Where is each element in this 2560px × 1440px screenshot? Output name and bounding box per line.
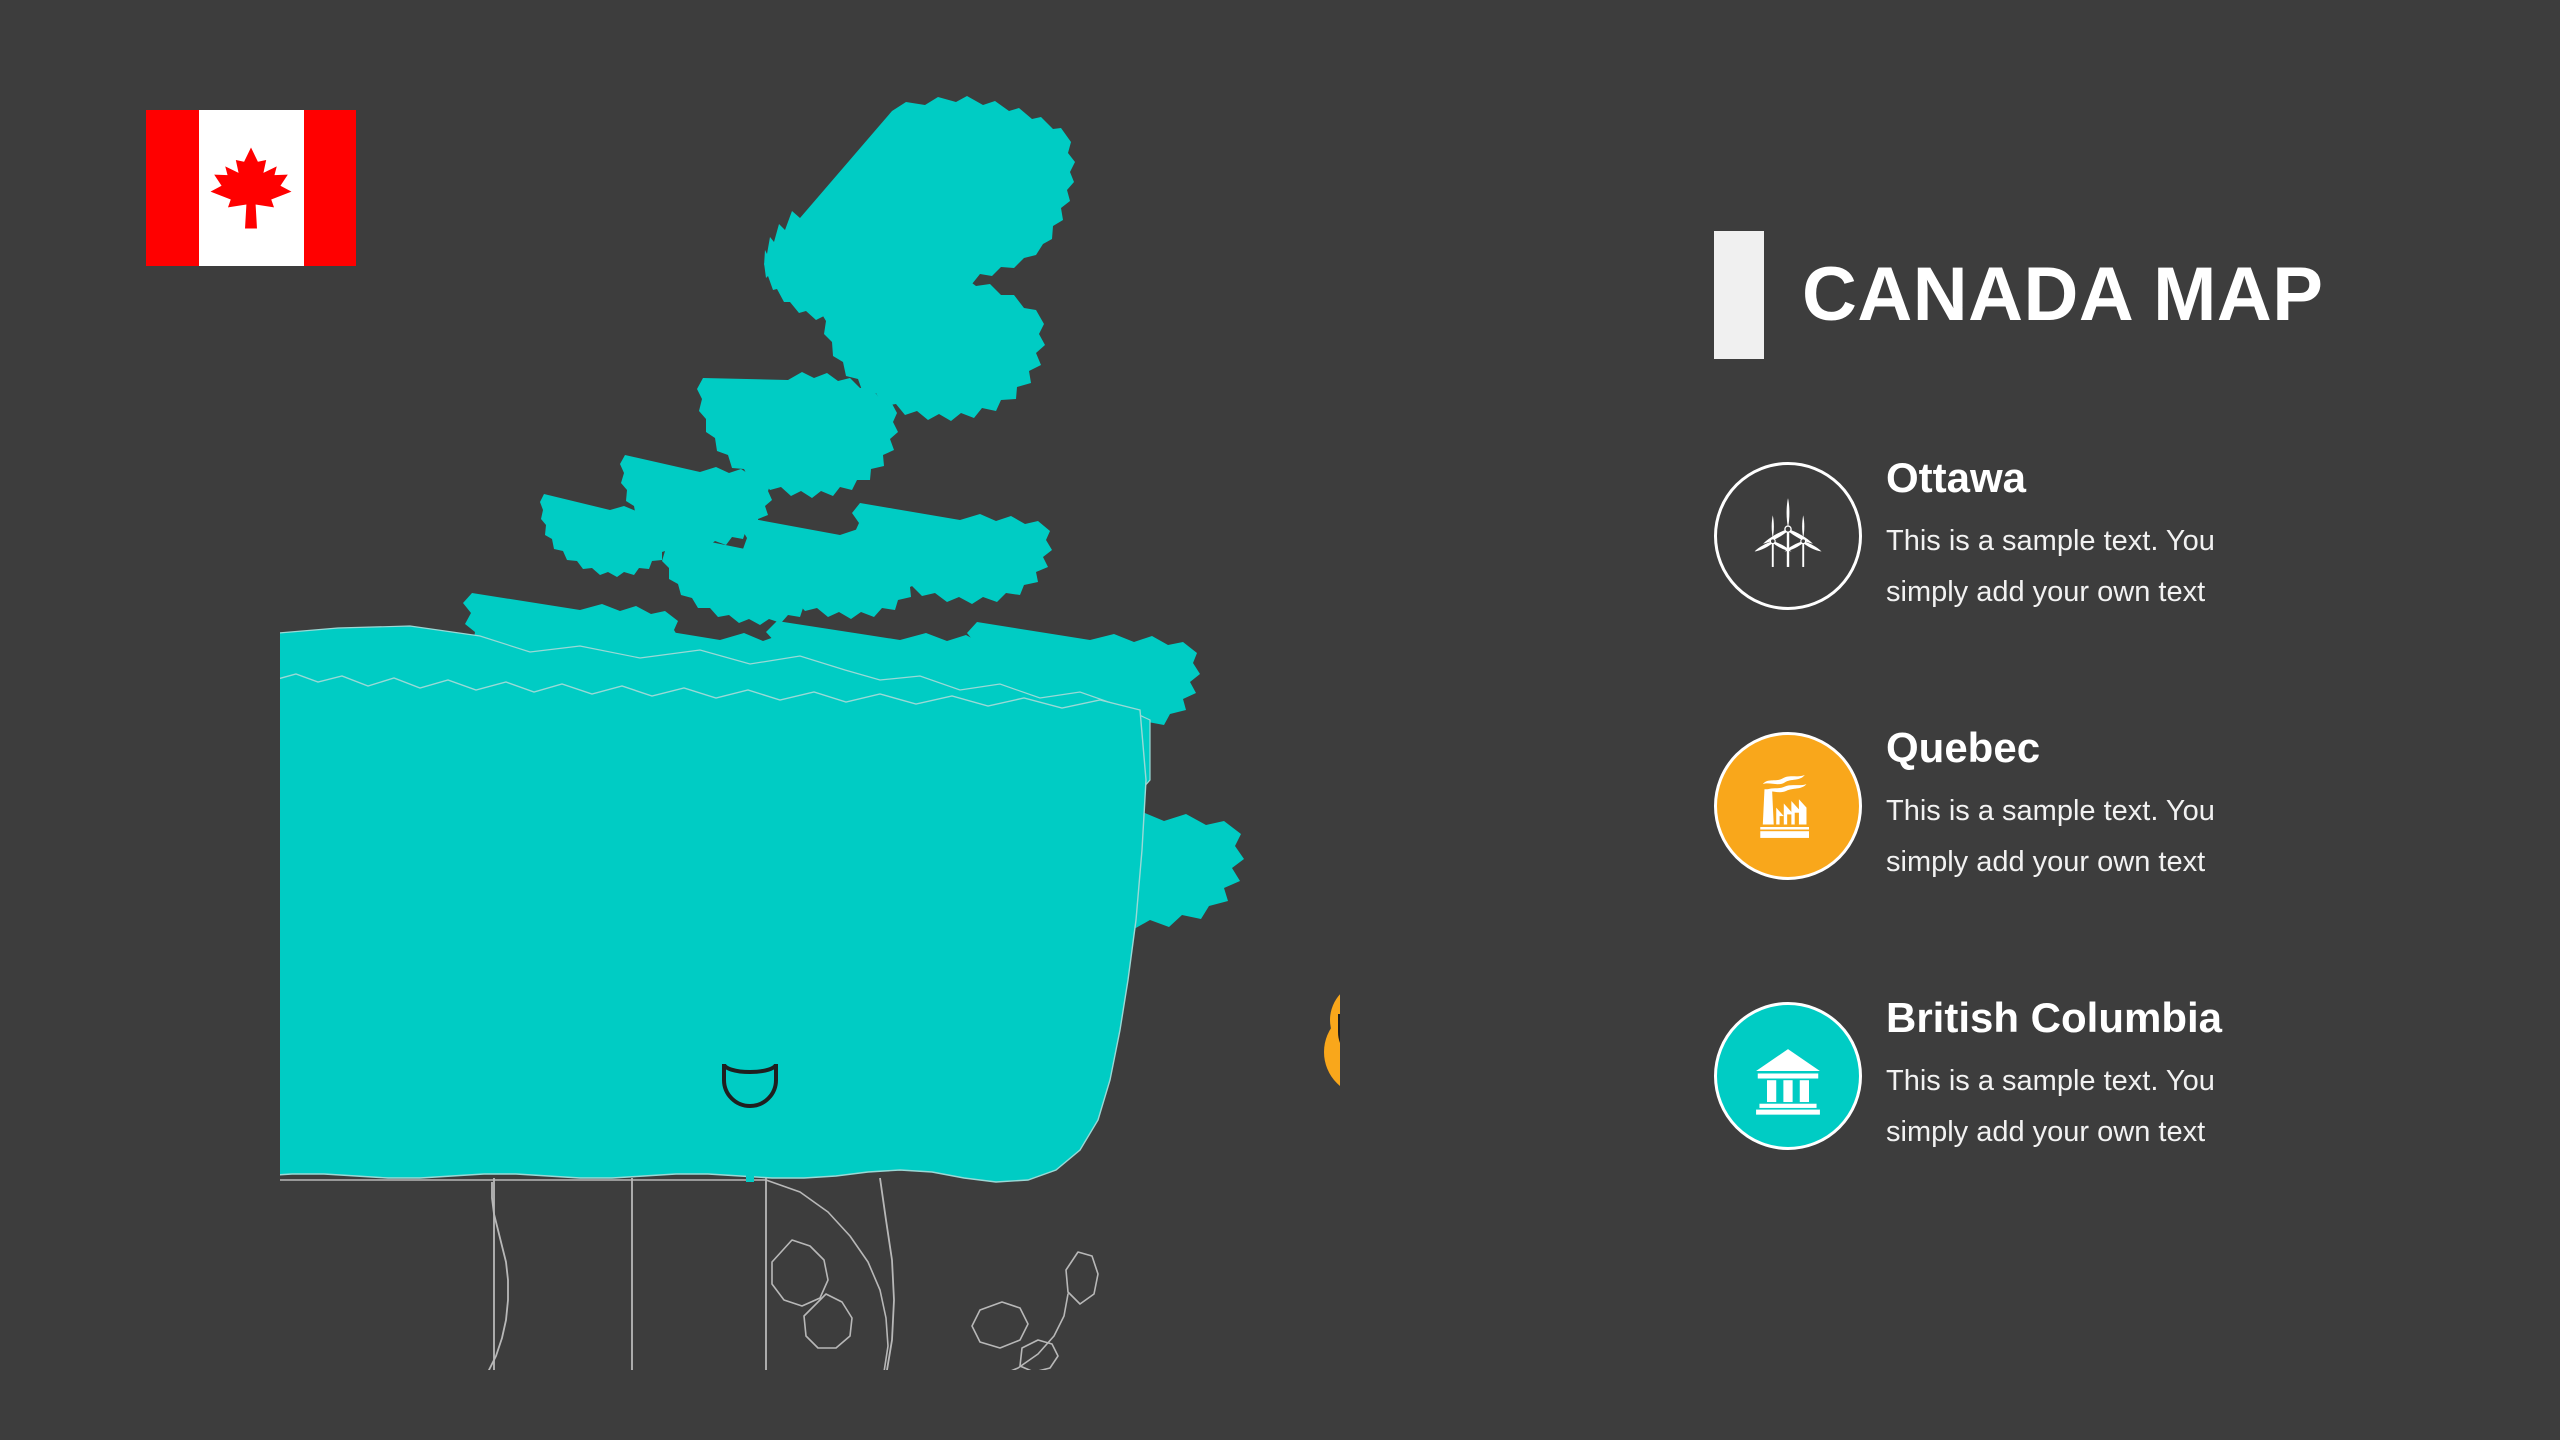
title-accent-bar [1714,231,1764,359]
list-item-ottawa[interactable]: Ottawa This is a sample text. You simply… [1714,452,2494,618]
list-item-title: British Columbia [1886,996,2222,1040]
desc-line-2: simply add your own text [1886,837,2215,888]
list-item-title: Ottawa [1886,456,2215,500]
page-title-row: CANADA MAP [1714,230,2494,360]
map-pin-east[interactable] [1324,982,1340,1140]
desc-line-1: This is a sample text. You [1886,1056,2222,1107]
bank-building-icon [1746,1034,1830,1118]
list-item-body: British Columbia This is a sample text. … [1886,992,2222,1158]
list-item-quebec[interactable]: Quebec This is a sample text. You simply… [1714,722,2494,888]
canada-map-svg[interactable] [280,80,1340,1370]
info-panel: CANADA MAP [1714,230,2494,360]
canada-map[interactable] [280,80,1340,1370]
factory-badge[interactable] [1714,732,1862,880]
list-item-body: Quebec This is a sample text. You simply… [1886,722,2215,888]
bank-building-badge[interactable] [1714,1002,1862,1150]
page-title: CANADA MAP [1802,257,2324,333]
desc-line-2: simply add your own text [1886,1107,2222,1158]
flag-left-band [146,110,199,266]
list-item-british-columbia[interactable]: British Columbia This is a sample text. … [1714,992,2494,1158]
list-item-description: This is a sample text. You simply add yo… [1886,1056,2222,1158]
list-item-body: Ottawa This is a sample text. You simply… [1886,452,2215,618]
desc-line-1: This is a sample text. You [1886,786,2215,837]
wind-turbine-badge[interactable] [1714,462,1862,610]
list-item-description: This is a sample text. You simply add yo… [1886,786,2215,888]
desc-line-1: This is a sample text. You [1886,516,2215,567]
factory-icon [1746,764,1830,848]
desc-line-2: simply add your own text [1886,567,2215,618]
list-item-description: This is a sample text. You simply add yo… [1886,516,2215,618]
map-region-southern-provinces[interactable] [280,1178,894,1370]
wind-turbine-icon [1745,493,1831,579]
list-item-title: Quebec [1886,726,2215,770]
slide-canvas: CANADA MAP [0,0,2560,1440]
